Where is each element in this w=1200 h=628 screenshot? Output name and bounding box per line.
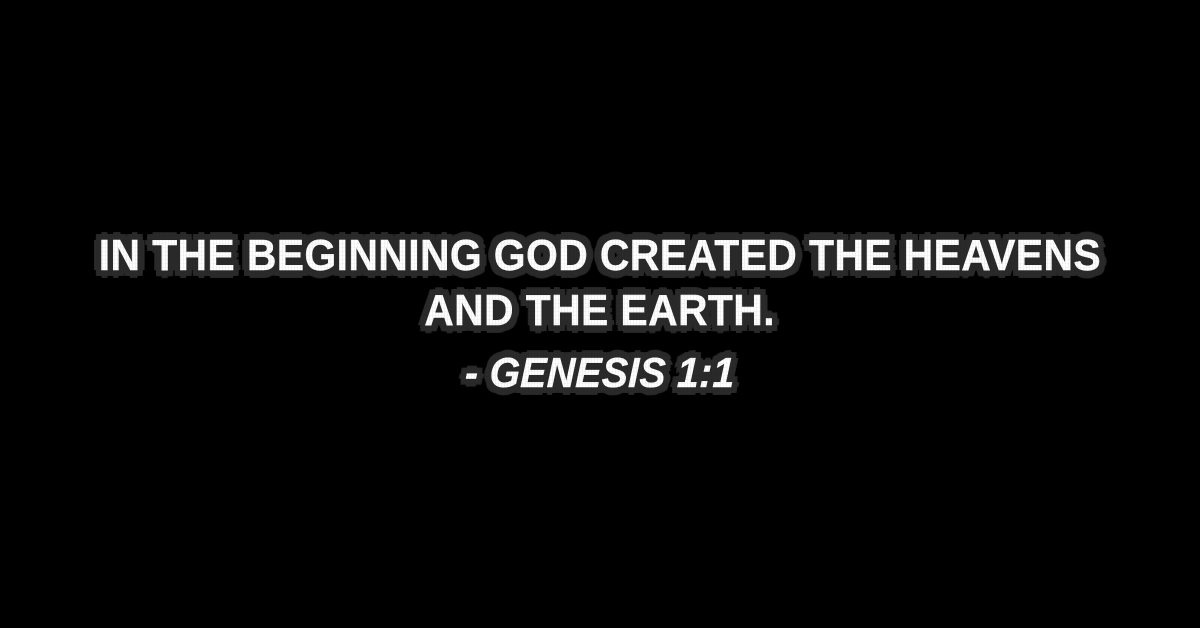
quote-line-1: IN THE BEGINNING GOD CREATED THE HEAVENS xyxy=(99,228,1101,283)
quote-attribution: - GENESIS 1:1 xyxy=(464,345,735,400)
quote-line-2: AND THE EARTH. xyxy=(425,283,776,338)
quote-image-canvas: IN THE BEGINNING GOD CREATED THE HEAVENS… xyxy=(0,0,1200,628)
quote-block: IN THE BEGINNING GOD CREATED THE HEAVENS… xyxy=(0,228,1200,400)
